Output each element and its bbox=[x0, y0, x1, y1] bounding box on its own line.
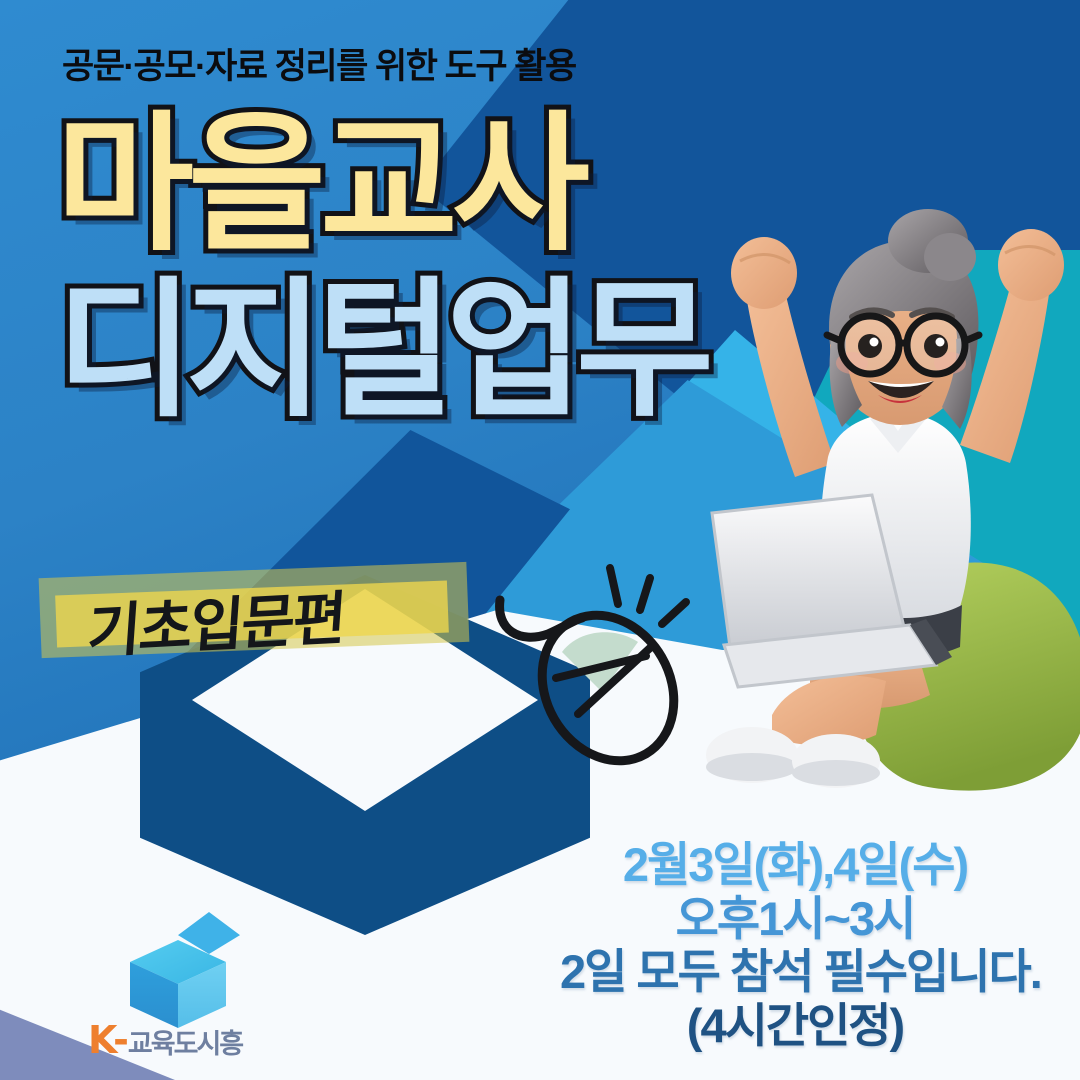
organization-logo: K-교육도시흥 bbox=[88, 932, 268, 1062]
title-line-1: 마을교사 bbox=[56, 112, 706, 258]
logo-wordmark: K-교육도시흥 bbox=[88, 1018, 268, 1062]
schedule-date: 2월3일(화),4일(수) bbox=[560, 838, 1030, 892]
title-line-2: 디지털업무 bbox=[56, 278, 706, 424]
logo-k-mark: K- bbox=[88, 1018, 128, 1062]
character-illustration bbox=[660, 195, 1080, 815]
badge-label: 기초입문편 bbox=[85, 571, 347, 669]
schedule-info: 2월3일(화),4일(수) 오후1시~3시 2일 모두 참석 필수입니다. (4… bbox=[560, 838, 1030, 1052]
cube-logo-icon bbox=[88, 932, 268, 1032]
schedule-notice: 2일 모두 참석 필수입니다. bbox=[560, 945, 1030, 999]
poster-canvas: 공문·공모·자료 정리를 위한 도구 활용 마을교사 디지털업무 기초입문편 2… bbox=[0, 0, 1080, 1080]
logo-org-name: 교육도시흥 bbox=[128, 1029, 242, 1059]
schedule-credit: (4시간인정) bbox=[560, 999, 1030, 1053]
course-level-badge: 기초입문편 bbox=[34, 552, 474, 670]
computer-mouse-icon bbox=[490, 560, 720, 780]
poster-title: 마을교사 디지털업무 bbox=[56, 112, 706, 423]
poster-subtitle: 공문·공모·자료 정리를 위한 도구 활용 bbox=[62, 38, 576, 89]
schedule-time: 오후1시~3시 bbox=[560, 892, 1030, 946]
